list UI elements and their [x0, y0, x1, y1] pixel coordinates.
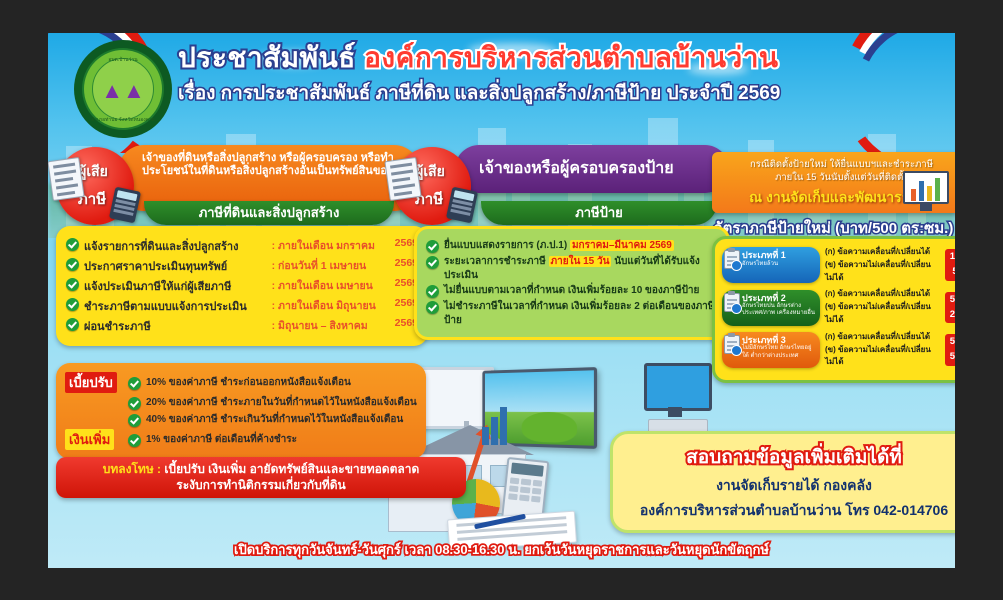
rate-value-a: 52: [945, 335, 955, 350]
contact-phone: องค์การบริหารส่วนตำบลบ้านว่าน โทร 042-01…: [623, 500, 955, 522]
table-row: ประกาศราคาประเมินทุนทรัพย์ : ก่อนวันที่ …: [66, 257, 418, 275]
contact-box: สอบถามข้อมูลเพิ่มเติมได้ที่ งานจัดเก็บรา…: [610, 431, 955, 533]
table-row: แจ้งรายการที่ดินและสิ่งปลูกสร้าง : ภายใน…: [66, 237, 418, 255]
title-part-1: ประชาสัมพันธ์: [178, 42, 356, 73]
surcharge-tag: เงินเพิ่ม: [65, 429, 114, 450]
list-item: เงินเพิ่ม 1% ของค่าภาษี ต่อเดือนที่ค้างช…: [65, 429, 417, 450]
rate-value-b: 50: [945, 350, 955, 365]
table-row: แจ้งประเมินภาษีให้แก่ผู้เสียภาษี : ภายใน…: [66, 277, 418, 295]
rate-value-a: 10: [945, 250, 955, 265]
list-item: ยื่นแบบแสดงรายการ (ภ.ป.1) มกราคม–มีนาคม …: [426, 239, 718, 253]
check-icon: [66, 278, 79, 291]
list-item: ไม่ยื่นแบบตามเวลาที่กำหนด เงินเพิ่มร้อยล…: [426, 284, 718, 298]
check-badge-icon: [731, 345, 742, 356]
rate-values: 52 26: [945, 292, 955, 323]
emblem-bottom-text: อำเภอท่าบ่อ จังหวัดหนองคาย: [74, 116, 172, 124]
rate-values: 52 50: [945, 334, 955, 365]
sign-type-1-tag: ประเภทที่ 1 อักษรไทยล้วน: [722, 247, 820, 283]
contact-heading: สอบถามข้อมูลเพิ่มเติมได้ที่: [623, 442, 955, 472]
schedule-date: : ภายในเดือน เมษายน: [272, 277, 390, 294]
bar-chart-monitor-icon: [903, 171, 949, 211]
schedule-label: ชำระภาษีตามแบบแจ้งการประเมิน: [84, 297, 267, 315]
rate-desc-b: (ข) ข้อความไม่เคลื่อนที่/เปลี่ยนไม่ได้: [825, 301, 940, 327]
check-icon: [426, 240, 439, 253]
punishment-line-2: ระงับการทำนิติกรรมเกี่ยวกับที่ดิน: [66, 478, 456, 494]
poster-canvas: อบต.บ้านว่าน ▲▲ อำเภอท่าบ่อ จังหวัดหนองค…: [48, 33, 955, 568]
check-icon: [66, 238, 79, 251]
check-badge-icon: [731, 260, 742, 271]
sign-rule-text: ไม่ชำระภาษีในเวลาที่กำหนด เงินเพิ่มร้อยล…: [444, 300, 718, 327]
document-icon: [48, 157, 85, 201]
check-icon: [426, 256, 439, 269]
schedule-date: : ภายในเดือน มิถุนายน: [272, 297, 390, 314]
rate-values: 10 5: [945, 249, 955, 280]
check-icon: [128, 434, 141, 447]
schedule-label: แจ้งรายการที่ดินและสิ่งปลูกสร้าง: [84, 237, 267, 255]
schedule-label: แจ้งประเมินภาษีให้แก่ผู้เสียภาษี: [84, 277, 267, 295]
sign-rule-text: ระยะเวลาการชำระภาษี ภายใน 15 วัน นับแต่ว…: [444, 255, 718, 282]
check-icon: [426, 301, 439, 314]
check-icon: [66, 258, 79, 271]
type-title: ประเภทที่ 3: [742, 335, 816, 345]
type-title: ประเภทที่ 2: [742, 293, 816, 303]
sign-rule-text: ไม่ยื่นแบบตามเวลาที่กำหนด เงินเพิ่มร้อยล…: [444, 284, 699, 298]
contact-department: งานจัดเก็บรายได้ กองคลัง: [623, 475, 955, 497]
punishment-bar: บทลงโทษ : เบี้ยปรับ เงินเพิ่ม อายัดทรัพย…: [56, 457, 466, 498]
sign-type-3-tag: ประเภทที่ 3 ไม่มีอักษรไทย อักษรไทยอยู่ใต…: [722, 332, 820, 368]
service-hours-bar: เปิดบริการทุกวันจันทร์-วันศุกร์ เวลา 08.…: [48, 539, 955, 560]
schedule-date: : มิถุนายน – สิงหาคม: [272, 317, 390, 334]
rate-value-a: 52: [945, 293, 955, 308]
rate-desc-b: (ข) ข้อความไม่เคลื่อนที่/เปลี่ยนไม่ได้: [825, 259, 940, 285]
calculator-icon: [446, 187, 478, 224]
title-part-2: องค์การบริหารส่วนตำบลบ้านว่าน: [364, 42, 778, 73]
sign-tax-info-panel: ยื่นแบบแสดงรายการ (ภ.ป.1) มกราคม–มีนาคม …: [414, 226, 730, 340]
check-icon: [426, 285, 439, 298]
schedule-label: ผ่อนชำระภาษี: [84, 317, 267, 335]
rate-desc-b: (ข) ข้อความไม่เคลื่อนที่/เปลี่ยนไม่ได้: [825, 344, 940, 370]
punishment-tag: บทลงโทษ :: [103, 462, 161, 476]
table-row: ประเภทที่ 3 ไม่มีอักษรไทย อักษรไทยอยู่ใต…: [722, 331, 955, 369]
type-desc: อักษรไทยปน อักษรต่างประเทศ/ภาพ เครื่องหม…: [742, 303, 816, 317]
check-badge-icon: [731, 303, 742, 314]
sign-rule-text: ยื่นแบบแสดงรายการ (ภ.ป.1) มกราคม–มีนาคม …: [444, 239, 674, 253]
land-tax-tab: ภาษีที่ดินและสิ่งปลูกสร้าง: [144, 201, 394, 225]
land-taxpayer-banner: เจ้าของที่ดินหรือสิ่งปลูกสร้าง หรือผู้คร…: [56, 145, 406, 231]
table-row: ประเภทที่ 2 อักษรไทยปน อักษรต่างประเทศ/ภ…: [722, 288, 955, 326]
sign-rate-table: ประเภทที่ 1 อักษรไทยล้วน (ก) ข้อความเคลื…: [712, 236, 955, 383]
check-icon: [66, 298, 79, 311]
list-item: ระยะเวลาการชำระภาษี ภายใน 15 วัน นับแต่ว…: [426, 255, 718, 282]
schedule-label: ประกาศราคาประเมินทุนทรัพย์: [84, 257, 267, 275]
rate-desc-a: (ก) ข้อความเคลื่อนที่/เปลี่ยนได้: [825, 246, 940, 259]
list-item: 40% ของค่าภาษี ชำระเกินวันที่กำหนดไว้ในห…: [65, 412, 417, 427]
sign-tax-tab: ภาษีป้าย: [481, 201, 717, 225]
poster-header: ประชาสัมพันธ์ องค์การบริหารส่วนตำบลบ้านว…: [178, 43, 895, 108]
type-desc: ไม่มีอักษรไทย อักษรไทยอยู่ใต้ ต่ำกว่าต่า…: [742, 345, 816, 359]
page-title: ประชาสัมพันธ์ องค์การบริหารส่วนตำบลบ้านว…: [178, 43, 895, 74]
check-icon: [128, 397, 141, 410]
calculator-icon: [109, 187, 141, 224]
document-icon: [384, 157, 421, 201]
notice-line-1: กรณีติดตั้งป้ายใหม่ ให้ยื่นแบบฯและชำระภา…: [720, 158, 955, 171]
check-icon: [128, 414, 141, 427]
fine-row-2: 20% ของค่าภาษี ชำระภายในวันที่กำหนดไว้ใน…: [146, 395, 417, 410]
rate-desc-a: (ก) ข้อความเคลื่อนที่/เปลี่ยนได้: [825, 331, 940, 344]
list-item: 20% ของค่าภาษี ชำระภายในวันที่กำหนดไว้ใน…: [65, 395, 417, 410]
table-row: ประเภทที่ 1 อักษรไทยล้วน (ก) ข้อความเคลื…: [722, 246, 955, 284]
check-icon: [128, 377, 141, 390]
fine-row-1: 10% ของค่าภาษี ชำระก่อนออกหนังสือแจ้งเตื…: [146, 375, 351, 390]
schedule-date: : ก่อนวันที่ 1 เมษายน: [272, 257, 390, 274]
rate-value-b: 26: [945, 308, 955, 323]
type-desc: อักษรไทยล้วน: [742, 261, 816, 268]
table-row: ผ่อนชำระภาษี : มิถุนายน – สิงหาคม 2569: [66, 317, 418, 335]
fine-tag: เบี้ยปรับ: [65, 372, 117, 393]
fine-row-3: 40% ของค่าภาษี ชำระเกินวันที่กำหนดไว้ในห…: [146, 412, 403, 427]
rate-descriptions: (ก) ข้อความเคลื่อนที่/เปลี่ยนได้ (ข) ข้อ…: [825, 331, 940, 369]
sign-type-2-tag: ประเภทที่ 2 อักษรไทยปน อักษรต่างประเทศ/ภ…: [722, 290, 820, 326]
sign-taxpayer-description: เจ้าของหรือผู้ครอบครองป้าย: [455, 145, 729, 193]
list-item: เบี้ยปรับ 10% ของค่าภาษี ชำระก่อนออกหนัง…: [65, 372, 417, 393]
table-row: ชำระภาษีตามแบบแจ้งการประเมิน : ภายในเดือ…: [66, 297, 418, 315]
surcharge-row: 1% ของค่าภาษี ต่อเดือนที่ค้างชำระ: [146, 432, 297, 447]
rate-descriptions: (ก) ข้อความเคลื่อนที่/เปลี่ยนได้ (ข) ข้อ…: [825, 288, 940, 326]
rate-desc-a: (ก) ข้อความเคลื่อนที่/เปลี่ยนได้: [825, 288, 940, 301]
type-title: ประเภทที่ 1: [742, 250, 816, 260]
rate-descriptions: (ก) ข้อความเคลื่อนที่/เปลี่ยนได้ (ข) ข้อ…: [825, 246, 940, 284]
check-icon: [66, 318, 79, 331]
emblem-top-text: อบต.บ้านว่าน: [74, 56, 172, 64]
list-item: ไม่ชำระภาษีในเวลาที่กำหนด เงินเพิ่มร้อยล…: [426, 300, 718, 327]
penalty-box: เบี้ยปรับ 10% ของค่าภาษี ชำระก่อนออกหนัง…: [56, 363, 426, 459]
punishment-line-1: บทลงโทษ : เบี้ยปรับ เงินเพิ่ม อายัดทรัพย…: [66, 462, 456, 478]
monitor-icon: [644, 363, 712, 411]
schedule-date: : ภายในเดือน มกราคม: [272, 237, 390, 254]
sign-taxpayer-banner: เจ้าของหรือผู้ครอบครองป้าย ภาษีป้าย ผู้เ…: [393, 145, 713, 231]
page-subtitle: เรื่อง การประชาสัมพันธ์ ภาษีที่ดิน และสิ…: [178, 78, 895, 108]
rate-value-b: 5: [945, 265, 955, 280]
municipality-emblem: อบต.บ้านว่าน ▲▲ อำเภอท่าบ่อ จังหวัดหนองค…: [74, 40, 172, 138]
land-tax-schedule-panel: แจ้งรายการที่ดินและสิ่งปลูกสร้าง : ภายใน…: [56, 226, 428, 346]
temple-icon: ▲▲: [101, 80, 145, 102]
